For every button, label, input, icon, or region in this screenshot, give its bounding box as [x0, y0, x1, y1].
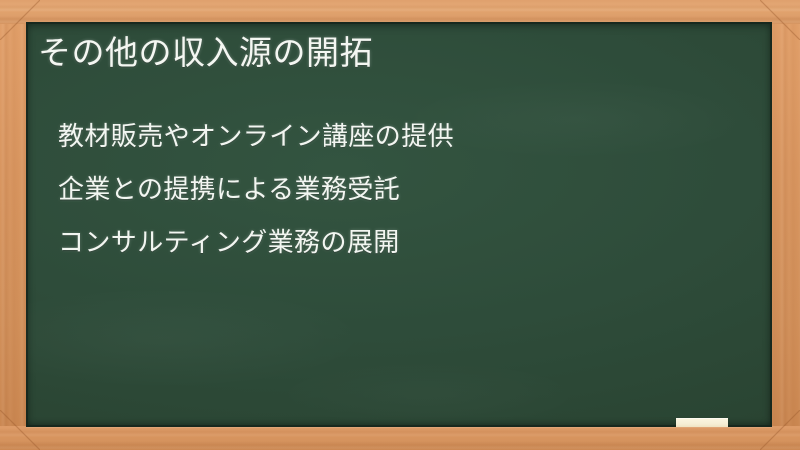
wooden-frame-top-rail — [0, 0, 800, 24]
blackboard-slide: その他の収入源の開拓 教材販売やオンライン講座の提供 企業との提携による業務受託… — [0, 0, 800, 450]
chalkboard-surface: その他の収入源の開拓 教材販売やオンライン講座の提供 企業との提携による業務受託… — [26, 22, 772, 427]
slide-title: その他の収入源の開拓 — [38, 32, 373, 74]
list-item: 企業との提携による業務受託 — [58, 163, 756, 216]
list-item: 教材販売やオンライン講座の提供 — [58, 110, 756, 163]
chalk-stick-icon — [676, 418, 728, 427]
wooden-frame-bottom-rail — [0, 426, 800, 450]
list-item: コンサルティング業務の展開 — [58, 216, 756, 269]
bullet-list: 教材販売やオンライン講座の提供 企業との提携による業務受託 コンサルティング業務… — [58, 110, 756, 269]
